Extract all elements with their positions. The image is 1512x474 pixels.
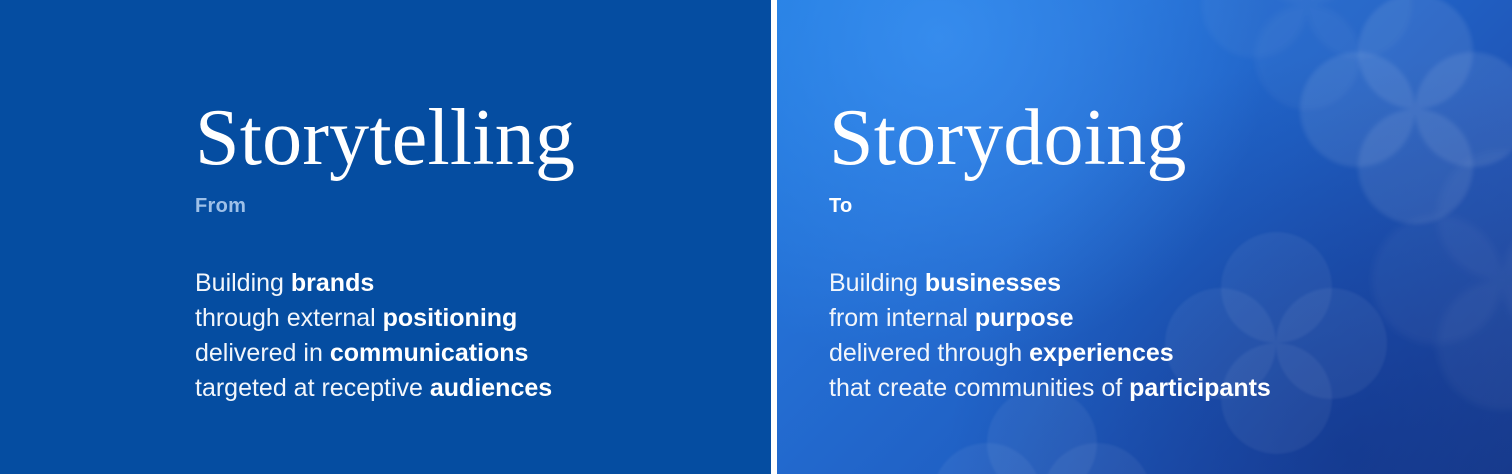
list-item: delivered through experiences — [829, 336, 1271, 371]
line-plain: Building — [829, 269, 925, 297]
line-emphasis: audiences — [430, 374, 552, 402]
list-item: delivered in communications — [195, 336, 552, 371]
left-body-text: Building brands through external positio… — [195, 266, 552, 406]
list-item: Building businesses — [829, 266, 1271, 301]
list-item: targeted at receptive audiences — [195, 371, 552, 406]
right-content: Storydoing To Building businesses from i… — [829, 0, 1512, 474]
page-title-storydoing: Storydoing — [829, 98, 1187, 178]
list-item: that create communities of participants — [829, 371, 1271, 406]
page-title-storytelling: Storytelling — [195, 98, 575, 178]
line-emphasis: communications — [330, 339, 529, 367]
left-content: Storytelling From Building brands throug… — [195, 0, 771, 474]
line-plain: that create communities of — [829, 374, 1129, 402]
line-emphasis: brands — [291, 269, 374, 297]
line-emphasis: participants — [1129, 374, 1271, 402]
line-plain: targeted at receptive — [195, 374, 430, 402]
line-emphasis: businesses — [925, 269, 1061, 297]
line-emphasis: positioning — [383, 304, 518, 332]
label-to: To — [829, 196, 853, 216]
label-from: From — [195, 196, 246, 216]
line-emphasis: experiences — [1029, 339, 1174, 367]
line-emphasis: purpose — [975, 304, 1074, 332]
comparison-slide: Storytelling From Building brands throug… — [0, 0, 1512, 474]
list-item: from internal purpose — [829, 301, 1271, 336]
line-plain: delivered through — [829, 339, 1029, 367]
line-plain: from internal — [829, 304, 975, 332]
panel-storydoing: Storydoing To Building businesses from i… — [777, 0, 1512, 474]
line-plain: through external — [195, 304, 383, 332]
list-item: through external positioning — [195, 301, 552, 336]
panel-storytelling: Storytelling From Building brands throug… — [0, 0, 771, 474]
line-plain: delivered in — [195, 339, 330, 367]
right-body-text: Building businesses from internal purpos… — [829, 266, 1271, 406]
line-plain: Building — [195, 269, 291, 297]
list-item: Building brands — [195, 266, 552, 301]
